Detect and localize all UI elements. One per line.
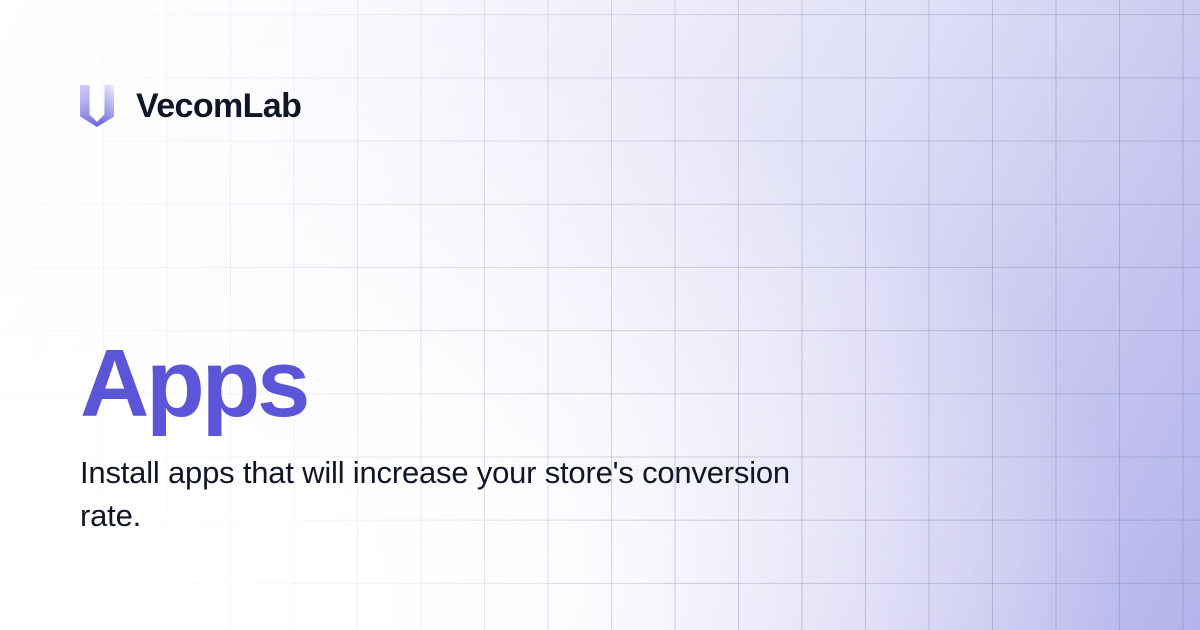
brand-name: VecomLab bbox=[136, 89, 301, 123]
og-banner-card: VecomLab Apps Install apps that will inc… bbox=[0, 0, 1200, 630]
brand-lockup: VecomLab bbox=[80, 82, 301, 130]
page-subtitle: Install apps that will increase your sto… bbox=[80, 452, 810, 538]
hero-text-block: Apps Install apps that will increase you… bbox=[80, 336, 860, 538]
page-title: Apps bbox=[80, 336, 860, 432]
shield-u-logo-icon bbox=[80, 85, 114, 127]
